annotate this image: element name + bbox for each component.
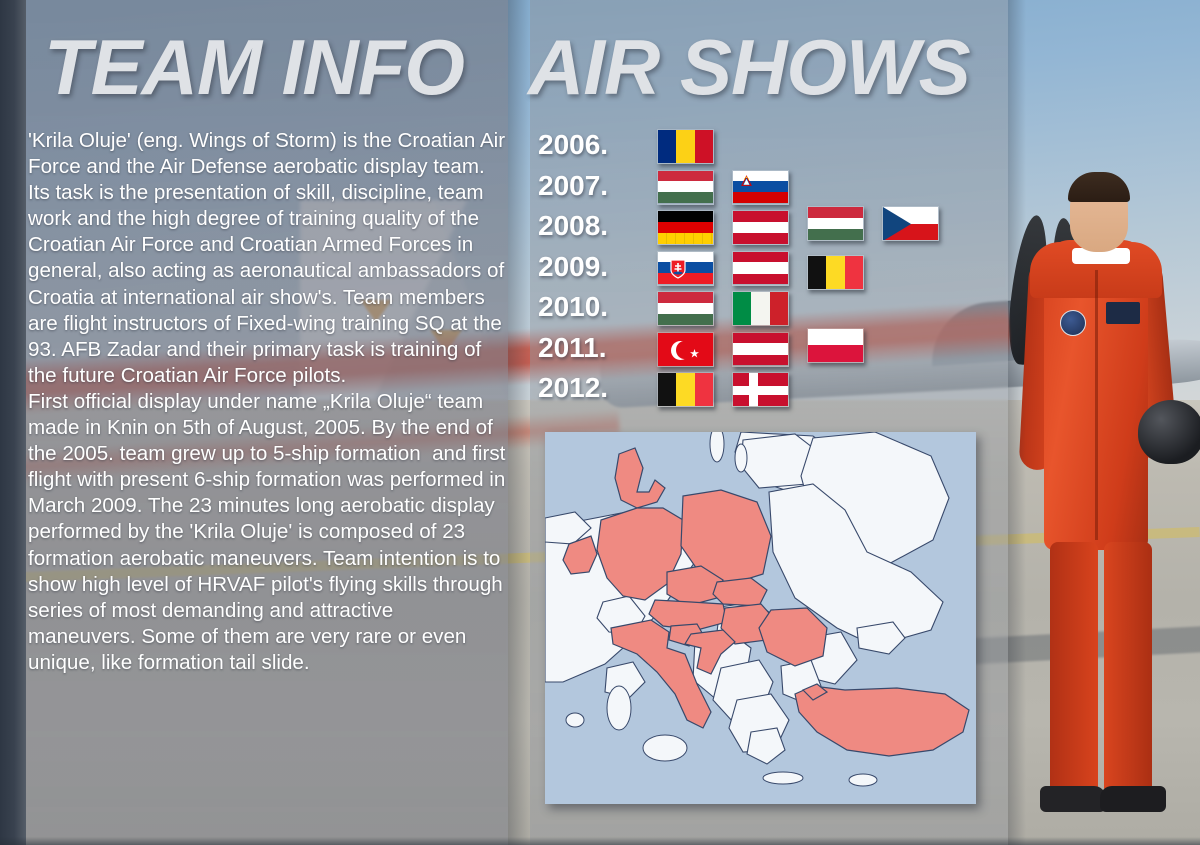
flag-cz[interactable] [882, 206, 939, 241]
air-show-row: 2012. [538, 371, 998, 412]
flag-be-icon [807, 255, 864, 290]
flag-tr-icon [657, 332, 714, 367]
air-show-row: 2006. [538, 128, 998, 169]
air-show-row: 2010. [538, 290, 998, 331]
flag-at[interactable] [732, 332, 789, 367]
air-show-year: 2012. [538, 371, 634, 405]
czech-blue-triangle [883, 207, 911, 241]
europe-map-svg [545, 432, 976, 804]
slovakia-coat-of-arms-icon [670, 259, 686, 279]
pilot-right-leg [1104, 542, 1152, 792]
europe-map [545, 432, 976, 804]
flag-be[interactable] [807, 255, 864, 290]
panel-divider-right [1008, 0, 1026, 845]
flight-helmet-icon [1138, 400, 1200, 464]
infoboard-canvas: TEAM INFO 'Krila Oluje' (eng. Wings of S… [0, 0, 1200, 845]
flag-at-icon [732, 332, 789, 367]
air-show-year: 2011. [538, 331, 634, 365]
flag-ro-icon [657, 129, 714, 164]
bottom-edge-shadow [0, 837, 1200, 845]
germany-gold-band [658, 233, 713, 244]
flag-be-icon [657, 372, 714, 407]
flag-at[interactable] [732, 210, 789, 245]
turkey-star-icon [690, 345, 699, 354]
flag-at-icon [732, 210, 789, 245]
flag-pl-icon [807, 328, 864, 363]
flag-at-icon [732, 251, 789, 286]
flag-sk[interactable] [657, 251, 714, 286]
team-info-heading: TEAM INFO [44, 28, 464, 106]
pilot-hair [1068, 172, 1130, 202]
flag-it[interactable] [732, 291, 789, 326]
pilot-right-boot [1100, 786, 1166, 812]
flag-hu[interactable] [807, 206, 864, 241]
flag-de-icon [657, 210, 714, 245]
flag-be[interactable] [657, 372, 714, 407]
flightsuit-zipper [1095, 270, 1098, 540]
flag-hu[interactable] [657, 291, 714, 326]
squadron-patch-icon [1060, 310, 1086, 336]
air-show-row: 2008. [538, 209, 998, 250]
flag-dk[interactable] [732, 372, 789, 407]
flag-si-icon [732, 170, 789, 205]
pilot-photo [1000, 150, 1200, 845]
flag-ro[interactable] [657, 129, 714, 164]
air-show-year: 2010. [538, 290, 634, 324]
flag-si[interactable] [732, 170, 789, 205]
air-shows-year-list: 2006.2007.2008.2009.2010.2011.2012. [538, 128, 998, 412]
flag-hu-icon [807, 206, 864, 241]
flag-at[interactable] [732, 251, 789, 286]
left-edge-strip [0, 0, 26, 845]
flag-hu[interactable] [657, 170, 714, 205]
air-show-year: 2009. [538, 250, 634, 284]
flag-hu-icon [657, 291, 714, 326]
flag-tr[interactable] [657, 332, 714, 367]
name-patch-icon [1106, 302, 1140, 324]
flag-pl[interactable] [807, 328, 864, 363]
flag-cz-icon [882, 206, 939, 241]
flag-de[interactable] [657, 210, 714, 245]
air-show-year: 2007. [538, 169, 634, 203]
flag-sk-icon [657, 251, 714, 286]
air-show-row: 2009. [538, 250, 998, 291]
air-show-year: 2008. [538, 209, 634, 243]
panel-divider-left [508, 0, 530, 845]
flag-it-icon [732, 291, 789, 326]
air-show-year: 2006. [538, 128, 634, 162]
air-shows-heading: AIR SHOWS [528, 28, 970, 106]
flag-dk-icon [732, 372, 789, 407]
denmark-cross-horizontal [733, 386, 788, 395]
slovenia-coat-of-arms-icon [740, 175, 753, 188]
pilot-left-leg [1050, 542, 1098, 792]
air-show-row: 2007. [538, 169, 998, 210]
team-info-body: 'Krila Oluje' (eng. Wings of Storm) is t… [28, 128, 506, 676]
pilot-left-boot [1040, 786, 1106, 812]
flag-hu-icon [657, 170, 714, 205]
air-show-row: 2011. [538, 331, 998, 372]
